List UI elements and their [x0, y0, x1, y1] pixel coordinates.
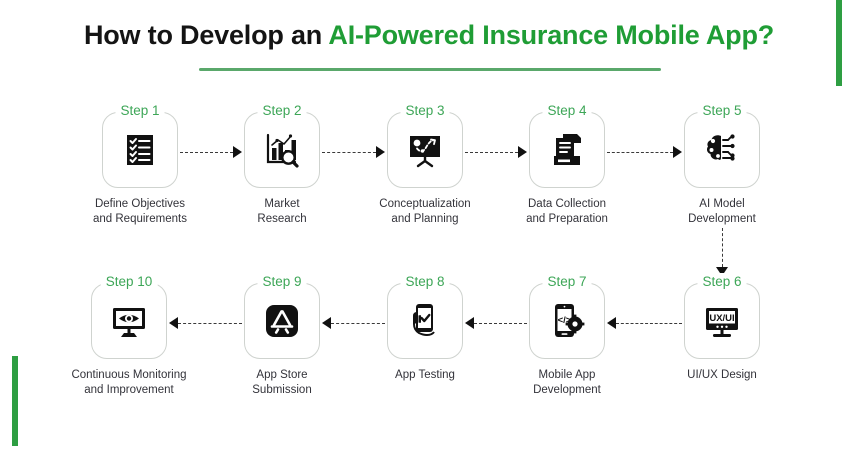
step-card-4-frame[interactable]: Step 4	[529, 112, 605, 188]
step-4-label: Data Collection and Preparation	[495, 197, 639, 227]
step-card-10-frame[interactable]: Step 10	[91, 283, 167, 359]
step-card-6-frame[interactable]: Step 6 UX/UI	[684, 283, 760, 359]
step-card-2[interactable]: Step 2 Market Research	[210, 112, 354, 227]
documents-folder-icon	[547, 130, 587, 170]
arrow-head	[322, 317, 331, 329]
page-title-lead: How to Develop an	[84, 20, 328, 50]
page-title-highlight: AI-Powered Insurance Mobile App?	[328, 20, 774, 50]
step-card-3-frame[interactable]: Step 3	[387, 112, 463, 188]
strategy-board-icon	[405, 130, 445, 170]
arrow-dash	[465, 152, 518, 153]
step-card-8-frame[interactable]: Step 8	[387, 283, 463, 359]
step-7-badge: Step 7	[542, 273, 591, 291]
app-store-icon	[262, 301, 302, 341]
arrow-dash	[180, 152, 233, 153]
step-6-badge: Step 6	[697, 273, 746, 291]
arrow-dash	[616, 323, 682, 324]
step-card-2-frame[interactable]: Step 2	[244, 112, 320, 188]
infographic-canvas: How to Develop an AI-Powered Insurance M…	[0, 0, 858, 450]
arrow-step4-to-step5	[607, 147, 682, 157]
arrow-step5-to-step6	[717, 228, 727, 276]
arrow-dash	[722, 228, 723, 267]
step-9-label: App Store Submission	[210, 368, 354, 398]
step-2-badge: Step 2	[257, 102, 306, 120]
step-10-label: Continuous Monitoring and Improvement	[57, 368, 201, 398]
step-3-label: Conceptualization and Planning	[353, 197, 497, 227]
step-1-label: Define Objectives and Requirements	[68, 197, 212, 227]
monitor-eye-icon	[109, 301, 149, 341]
step-5-badge: Step 5	[697, 102, 746, 120]
step-card-10[interactable]: Step 10 Continuous Monitoring and Improv…	[57, 283, 201, 398]
ai-brain-icon	[702, 130, 742, 170]
step-card-5[interactable]: Step 5 AI Model Develop	[650, 112, 794, 227]
hand-phone-check-icon	[405, 301, 445, 341]
arrow-step2-to-step3	[322, 147, 385, 157]
phone-code-gear-icon: </>	[547, 301, 587, 341]
step-card-6[interactable]: Step 6 UX/UI UI/UX Design	[650, 283, 794, 383]
step-card-8[interactable]: Step 8 App Testing	[353, 283, 497, 383]
arrow-head	[169, 317, 178, 329]
step-7-label: Mobile App Development	[495, 368, 639, 398]
step-card-7[interactable]: Step 7 </> Mobile App Development	[495, 283, 639, 398]
step-card-1[interactable]: Step 1 Define Objectives and Requirement…	[68, 112, 212, 227]
step-card-9-frame[interactable]: Step 9	[244, 283, 320, 359]
step-8-label: App Testing	[353, 368, 497, 383]
arrow-head	[607, 317, 616, 329]
step-card-9[interactable]: Step 9 App Store Submission	[210, 283, 354, 398]
step-1-badge: Step 1	[115, 102, 164, 120]
arrow-step1-to-step2	[180, 147, 242, 157]
title-underline	[199, 68, 661, 71]
step-card-3[interactable]: Step 3 Conceptualization and Planning	[353, 112, 497, 227]
step-4-badge: Step 4	[542, 102, 591, 120]
arrow-step8-to-step9	[322, 318, 385, 328]
step-card-1-frame[interactable]: Step 1	[102, 112, 178, 188]
decorative-green-bar-left	[12, 356, 18, 446]
arrow-step7-to-step8	[465, 318, 527, 328]
arrow-head	[233, 146, 242, 158]
step-5-label: AI Model Development	[650, 197, 794, 227]
arrow-dash	[322, 152, 376, 153]
step-9-badge: Step 9	[257, 273, 306, 291]
step-2-label: Market Research	[210, 197, 354, 227]
arrow-dash	[474, 323, 527, 324]
arrow-step9-to-step10	[169, 318, 242, 328]
arrow-head	[376, 146, 385, 158]
monitor-uxui-icon: UX/UI	[702, 301, 742, 341]
arrow-head	[518, 146, 527, 158]
arrow-step3-to-step4	[465, 147, 527, 157]
checklist-icon	[120, 130, 160, 170]
arrow-dash	[331, 323, 385, 324]
monitor-screen-text: UX/UI	[709, 313, 734, 324]
arrow-head	[673, 146, 682, 158]
step-card-4[interactable]: Step 4 Data Collection and Preparation	[495, 112, 639, 227]
step-card-5-frame[interactable]: Step 5	[684, 112, 760, 188]
arrow-dash	[178, 323, 242, 324]
arrow-head	[465, 317, 474, 329]
arrow-dash	[607, 152, 673, 153]
page-title: How to Develop an AI-Powered Insurance M…	[0, 18, 858, 52]
step-10-badge: Step 10	[101, 273, 158, 291]
step-3-badge: Step 3	[400, 102, 449, 120]
step-6-label: UI/UX Design	[650, 368, 794, 383]
step-8-badge: Step 8	[400, 273, 449, 291]
bar-chart-magnifier-icon	[262, 130, 302, 170]
step-card-7-frame[interactable]: Step 7 </>	[529, 283, 605, 359]
arrow-step6-to-step7	[607, 318, 682, 328]
